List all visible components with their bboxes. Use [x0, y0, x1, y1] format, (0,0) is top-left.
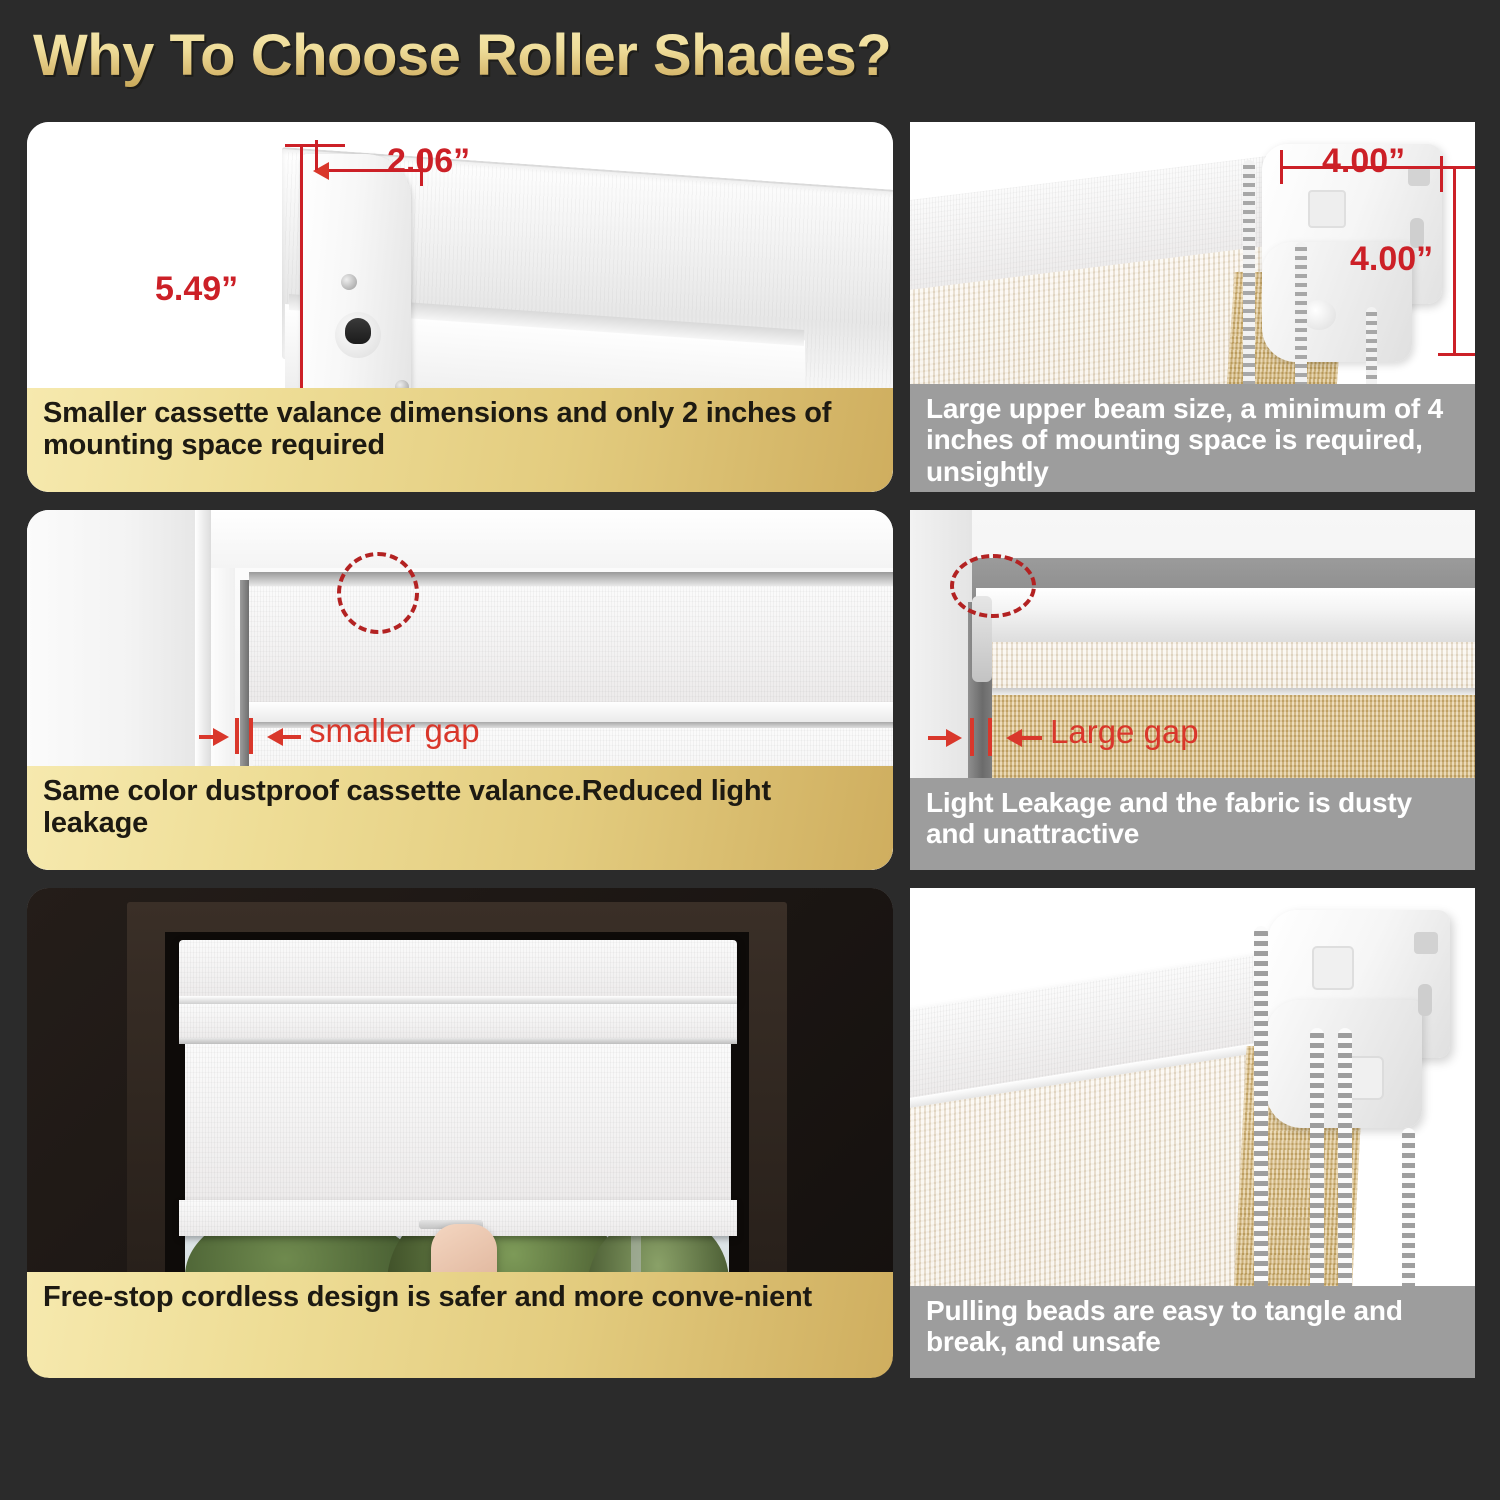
panel-4-caption: Light Leakage and the fabric is dusty an…	[910, 778, 1475, 870]
panel-6-caption: Pulling beads are easy to tangle and bre…	[910, 1286, 1475, 1378]
dimension-width-label: 2.06”	[387, 142, 470, 181]
panel-2-caption: Large upper beam size, a minimum of 4 in…	[910, 384, 1475, 492]
panel-cassette-valance-dimensions: 2.06” 5.49” Smaller cassette valance dim…	[27, 122, 893, 492]
panel-free-stop-cordless-design: Free-stop cordless design is safer and m…	[27, 888, 893, 1378]
dimension-height-label: 5.49”	[155, 270, 238, 309]
highlight-circle-icon	[337, 552, 419, 634]
gap-arrow-left-icon	[267, 728, 283, 746]
page-title: Why To Choose Roller Shades?	[33, 22, 891, 89]
smaller-gap-label: smaller gap	[309, 712, 480, 750]
panel-3-caption: Same color dustproof cassette valance.Re…	[27, 766, 893, 870]
panel-pulling-beads-tangle: Pulling beads are easy to tangle and bre…	[910, 888, 1475, 1378]
dimension-width-label: 4.00”	[1322, 142, 1405, 181]
panel-1-caption: Smaller cassette valance dimensions and …	[27, 388, 893, 492]
gap-arrow-left-icon	[1006, 729, 1022, 747]
large-gap-label: Large gap	[1050, 713, 1199, 751]
dimension-height-label: 4.00”	[1350, 240, 1433, 279]
highlight-circle-icon	[950, 554, 1036, 618]
panel-dustproof-cassette-valance: smaller gap Same color dustproof cassett…	[27, 510, 893, 870]
panel-light-leakage-dusty-fabric: Large gap Light Leakage and the fabric i…	[910, 510, 1475, 870]
panel-5-caption: Free-stop cordless design is safer and m…	[27, 1272, 893, 1378]
panel-large-upper-beam: 4.00” 4.00” Large upper beam size, a min…	[910, 122, 1475, 492]
